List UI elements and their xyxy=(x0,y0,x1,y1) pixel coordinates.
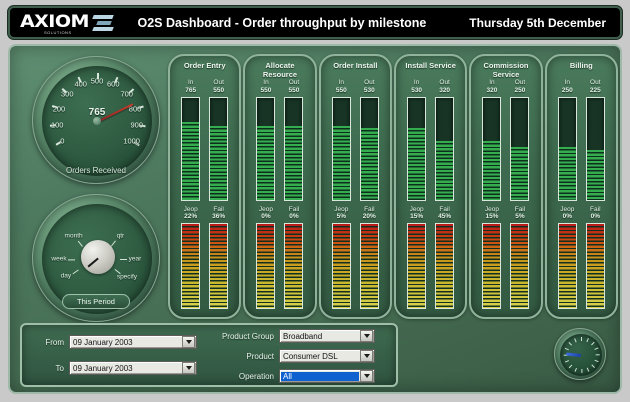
milestone-column[interactable]: Commission ServiceIn320Out250Jeop15%Fail… xyxy=(469,54,542,319)
throughput-meters: In765Out550 xyxy=(174,79,235,200)
jeop-value: 0% xyxy=(563,213,572,221)
milestone-column[interactable]: Order InstallIn550Out530Jeop5%Fail20% xyxy=(319,54,392,319)
gauge-tick-label: 700 xyxy=(120,90,133,99)
operation-value: All xyxy=(281,372,359,381)
column-title: Order Install xyxy=(333,62,377,79)
in-value: 765 xyxy=(185,87,196,95)
in-label: In xyxy=(565,79,570,86)
milestone-column[interactable]: Order EntryIn765Out550Jeop22%Fail36% xyxy=(168,54,241,319)
knob-tick xyxy=(72,269,79,274)
out-label: Out xyxy=(590,79,600,86)
jeop-meter: Jeop22% xyxy=(179,206,202,309)
fail-bar xyxy=(435,223,454,309)
jeop-meter: Jeop15% xyxy=(480,206,503,309)
fail-value: 0% xyxy=(289,213,298,221)
out-meter: Out550 xyxy=(207,79,230,200)
out-meter: Out225 xyxy=(584,79,607,200)
in-bar xyxy=(558,97,577,201)
risk-meters: Jeop15%Fail45% xyxy=(400,206,461,309)
in-label: In xyxy=(188,79,193,86)
column-title: Order Entry xyxy=(184,62,226,79)
milestone-columns: Order EntryIn765Out550Jeop22%Fail36%Allo… xyxy=(168,54,618,319)
fail-meter: Fail0% xyxy=(282,206,305,309)
in-value: 320 xyxy=(487,87,498,95)
out-value: 530 xyxy=(364,87,375,95)
page-title: O2S Dashboard - Order throughput by mile… xyxy=(137,16,426,30)
out-bar xyxy=(360,97,379,201)
product-group-combo[interactable]: Broadband xyxy=(279,329,375,343)
jeop-meter: Jeop5% xyxy=(330,206,353,309)
product-combo[interactable]: Consumer DSL xyxy=(279,349,375,363)
jeop-bar xyxy=(558,223,577,309)
axiom-logo: AXIOM SOLUTIONS xyxy=(20,14,113,31)
product-label: Product xyxy=(212,352,274,361)
from-label: From xyxy=(36,338,64,347)
period-selector-knob[interactable]: dayweekmonthqtryearspecify This Period xyxy=(32,194,160,322)
gauge-hub xyxy=(93,117,101,125)
from-date-value: 09 January 2003 xyxy=(70,338,182,347)
product-row: Product Consumer DSL xyxy=(212,349,375,363)
knob-option-specify[interactable]: specify xyxy=(117,274,137,281)
throughput-meters: In530Out320 xyxy=(400,79,461,200)
to-label: To xyxy=(36,364,64,373)
out-value: 250 xyxy=(515,87,526,95)
title-bar: AXIOM SOLUTIONS O2S Dashboard - Order th… xyxy=(8,6,622,39)
out-value: 225 xyxy=(590,87,601,95)
in-value: 250 xyxy=(562,87,573,95)
fail-meter: Fail0% xyxy=(584,206,607,309)
chevron-down-icon[interactable] xyxy=(360,330,373,342)
orders-received-gauge: 01002003004005006007008009001000 765 Ord… xyxy=(32,56,160,184)
in-label: In xyxy=(339,79,344,86)
column-title: Install Service xyxy=(405,62,455,79)
dashboard-app: AXIOM SOLUTIONS O2S Dashboard - Order th… xyxy=(0,0,630,402)
fail-value: 45% xyxy=(438,213,451,221)
out-bar xyxy=(586,97,605,201)
throughput-meters: In250Out225 xyxy=(551,79,612,200)
fail-meter: Fail36% xyxy=(207,206,230,309)
in-value: 530 xyxy=(411,87,422,95)
risk-meters: Jeop0%Fail0% xyxy=(551,206,612,309)
knob-option-qtr[interactable]: qtr xyxy=(117,232,125,239)
operation-row: Operation All xyxy=(212,369,375,383)
jeop-meter: Jeop15% xyxy=(405,206,428,309)
knob-dial[interactable] xyxy=(81,240,115,274)
jeop-bar xyxy=(256,223,275,309)
chevron-down-icon[interactable] xyxy=(360,370,373,382)
logo-subtitle: SOLUTIONS xyxy=(44,30,72,35)
fail-meter: Fail20% xyxy=(358,206,381,309)
in-meter: In320 xyxy=(480,79,503,200)
in-meter: In550 xyxy=(330,79,353,200)
milestone-column[interactable]: Install ServiceIn530Out320Jeop15%Fail45% xyxy=(394,54,467,319)
in-bar xyxy=(256,97,275,201)
operation-combo[interactable]: All xyxy=(279,369,375,383)
column-title: Allocate Resource xyxy=(249,62,310,79)
in-label: In xyxy=(414,79,419,86)
in-bar xyxy=(181,97,200,201)
jeop-meter: Jeop0% xyxy=(556,206,579,309)
product-group-row: Product Group Broadband xyxy=(212,329,375,343)
fail-meter: Fail5% xyxy=(508,206,531,309)
in-bar xyxy=(332,97,351,201)
milestone-column[interactable]: Allocate ResourceIn550Out550Jeop0%Fail0% xyxy=(243,54,316,319)
knob-option-year[interactable]: year xyxy=(129,256,142,263)
gauge-tick-label: 600 xyxy=(107,80,120,89)
in-label: In xyxy=(489,79,494,86)
jeop-bar xyxy=(332,223,351,309)
in-bar xyxy=(407,97,426,201)
out-label: Out xyxy=(289,79,299,86)
risk-meters: Jeop5%Fail20% xyxy=(325,206,386,309)
knob-option-month[interactable]: month xyxy=(65,232,83,239)
fail-value: 5% xyxy=(515,213,524,221)
logo-wordmark: AXIOM xyxy=(20,14,89,31)
out-meter: Out250 xyxy=(508,79,531,200)
filter-panel: From 09 January 2003 To 09 January 2003 … xyxy=(20,323,398,387)
to-date-row: To 09 January 2003 xyxy=(36,361,197,375)
jeop-bar xyxy=(407,223,426,309)
fail-bar xyxy=(586,223,605,309)
from-date-row: From 09 January 2003 xyxy=(36,335,197,349)
in-label: In xyxy=(263,79,268,86)
fail-bar xyxy=(360,223,379,309)
risk-meters: Jeop22%Fail36% xyxy=(174,206,235,309)
chevron-down-icon[interactable] xyxy=(182,362,195,374)
gauge-tick-label: 300 xyxy=(61,90,74,99)
knob-caption: This Period xyxy=(62,294,130,309)
knob-tick xyxy=(78,241,83,247)
column-title: Commission Service xyxy=(475,62,536,79)
jeop-value: 22% xyxy=(184,213,197,221)
knob-option-week[interactable]: week xyxy=(51,256,66,263)
gauge-value: 765 xyxy=(42,107,152,118)
in-value: 550 xyxy=(336,87,347,95)
out-meter: Out530 xyxy=(358,79,381,200)
fail-meter: Fail45% xyxy=(433,206,456,309)
gauge-tick-label: 1000 xyxy=(123,137,140,146)
jeop-value: 15% xyxy=(410,213,423,221)
gauge-tick-label: 500 xyxy=(91,77,104,86)
out-meter: Out320 xyxy=(433,79,456,200)
chevron-down-icon[interactable] xyxy=(182,336,195,348)
column-title: Billing xyxy=(570,62,593,79)
out-bar xyxy=(284,97,303,201)
jeop-bar xyxy=(482,223,501,309)
throughput-meters: In320Out250 xyxy=(475,79,536,200)
status-dial-needle xyxy=(566,352,581,357)
knob-tick xyxy=(120,259,127,260)
gauge-tick-label: 0 xyxy=(60,137,64,146)
main-panel: 01002003004005006007008009001000 765 Ord… xyxy=(8,44,622,394)
out-label: Out xyxy=(364,79,374,86)
out-value: 550 xyxy=(213,87,224,95)
from-date-combo[interactable]: 09 January 2003 xyxy=(69,335,197,349)
throughput-meters: In550Out550 xyxy=(249,79,310,200)
out-label: Out xyxy=(515,79,525,86)
status-dial xyxy=(554,328,606,380)
in-meter: In530 xyxy=(405,79,428,200)
chevron-down-icon[interactable] xyxy=(360,350,373,362)
product-group-label: Product Group xyxy=(212,332,274,341)
product-value: Consumer DSL xyxy=(280,352,360,361)
out-label: Out xyxy=(439,79,449,86)
in-meter: In765 xyxy=(179,79,202,200)
to-date-combo[interactable]: 09 January 2003 xyxy=(69,361,197,375)
in-meter: In250 xyxy=(556,79,579,200)
out-meter: Out550 xyxy=(282,79,305,200)
throughput-meters: In550Out530 xyxy=(325,79,386,200)
fail-value: 20% xyxy=(363,213,376,221)
status-dial-face xyxy=(560,334,602,376)
fail-bar xyxy=(209,223,228,309)
gauge-tick-label: 400 xyxy=(74,80,87,89)
out-bar xyxy=(510,97,529,201)
out-bar xyxy=(435,97,454,201)
risk-meters: Jeop0%Fail0% xyxy=(249,206,310,309)
out-value: 550 xyxy=(289,87,300,95)
operation-label: Operation xyxy=(212,372,274,381)
fail-bar xyxy=(284,223,303,309)
knob-tick xyxy=(68,259,75,260)
gauge-tick-label: 100 xyxy=(51,121,64,130)
milestone-column[interactable]: BillingIn250Out225Jeop0%Fail0% xyxy=(545,54,618,319)
to-date-value: 09 January 2003 xyxy=(70,364,182,373)
gauge-caption: Orders Received xyxy=(33,166,159,175)
in-bar xyxy=(482,97,501,201)
jeop-value: 0% xyxy=(261,213,270,221)
fail-value: 0% xyxy=(591,213,600,221)
knob-pointer-icon xyxy=(87,257,98,267)
fail-bar xyxy=(510,223,529,309)
jeop-value: 15% xyxy=(485,213,498,221)
risk-meters: Jeop15%Fail5% xyxy=(475,206,536,309)
product-group-value: Broadband xyxy=(280,332,360,341)
out-label: Out xyxy=(213,79,223,86)
logo-glyph-icon xyxy=(93,15,113,31)
gauge-tick-label: 900 xyxy=(131,121,144,130)
header-date: Thursday 5th December xyxy=(469,16,606,30)
in-value: 550 xyxy=(261,87,272,95)
jeop-meter: Jeop0% xyxy=(254,206,277,309)
gauge-face: 01002003004005006007008009001000 765 xyxy=(42,66,152,176)
jeop-bar xyxy=(181,223,200,309)
fail-value: 36% xyxy=(212,213,225,221)
in-meter: In550 xyxy=(254,79,277,200)
knob-option-day[interactable]: day xyxy=(61,273,71,280)
jeop-value: 5% xyxy=(337,213,346,221)
out-bar xyxy=(209,97,228,201)
out-value: 320 xyxy=(439,87,450,95)
